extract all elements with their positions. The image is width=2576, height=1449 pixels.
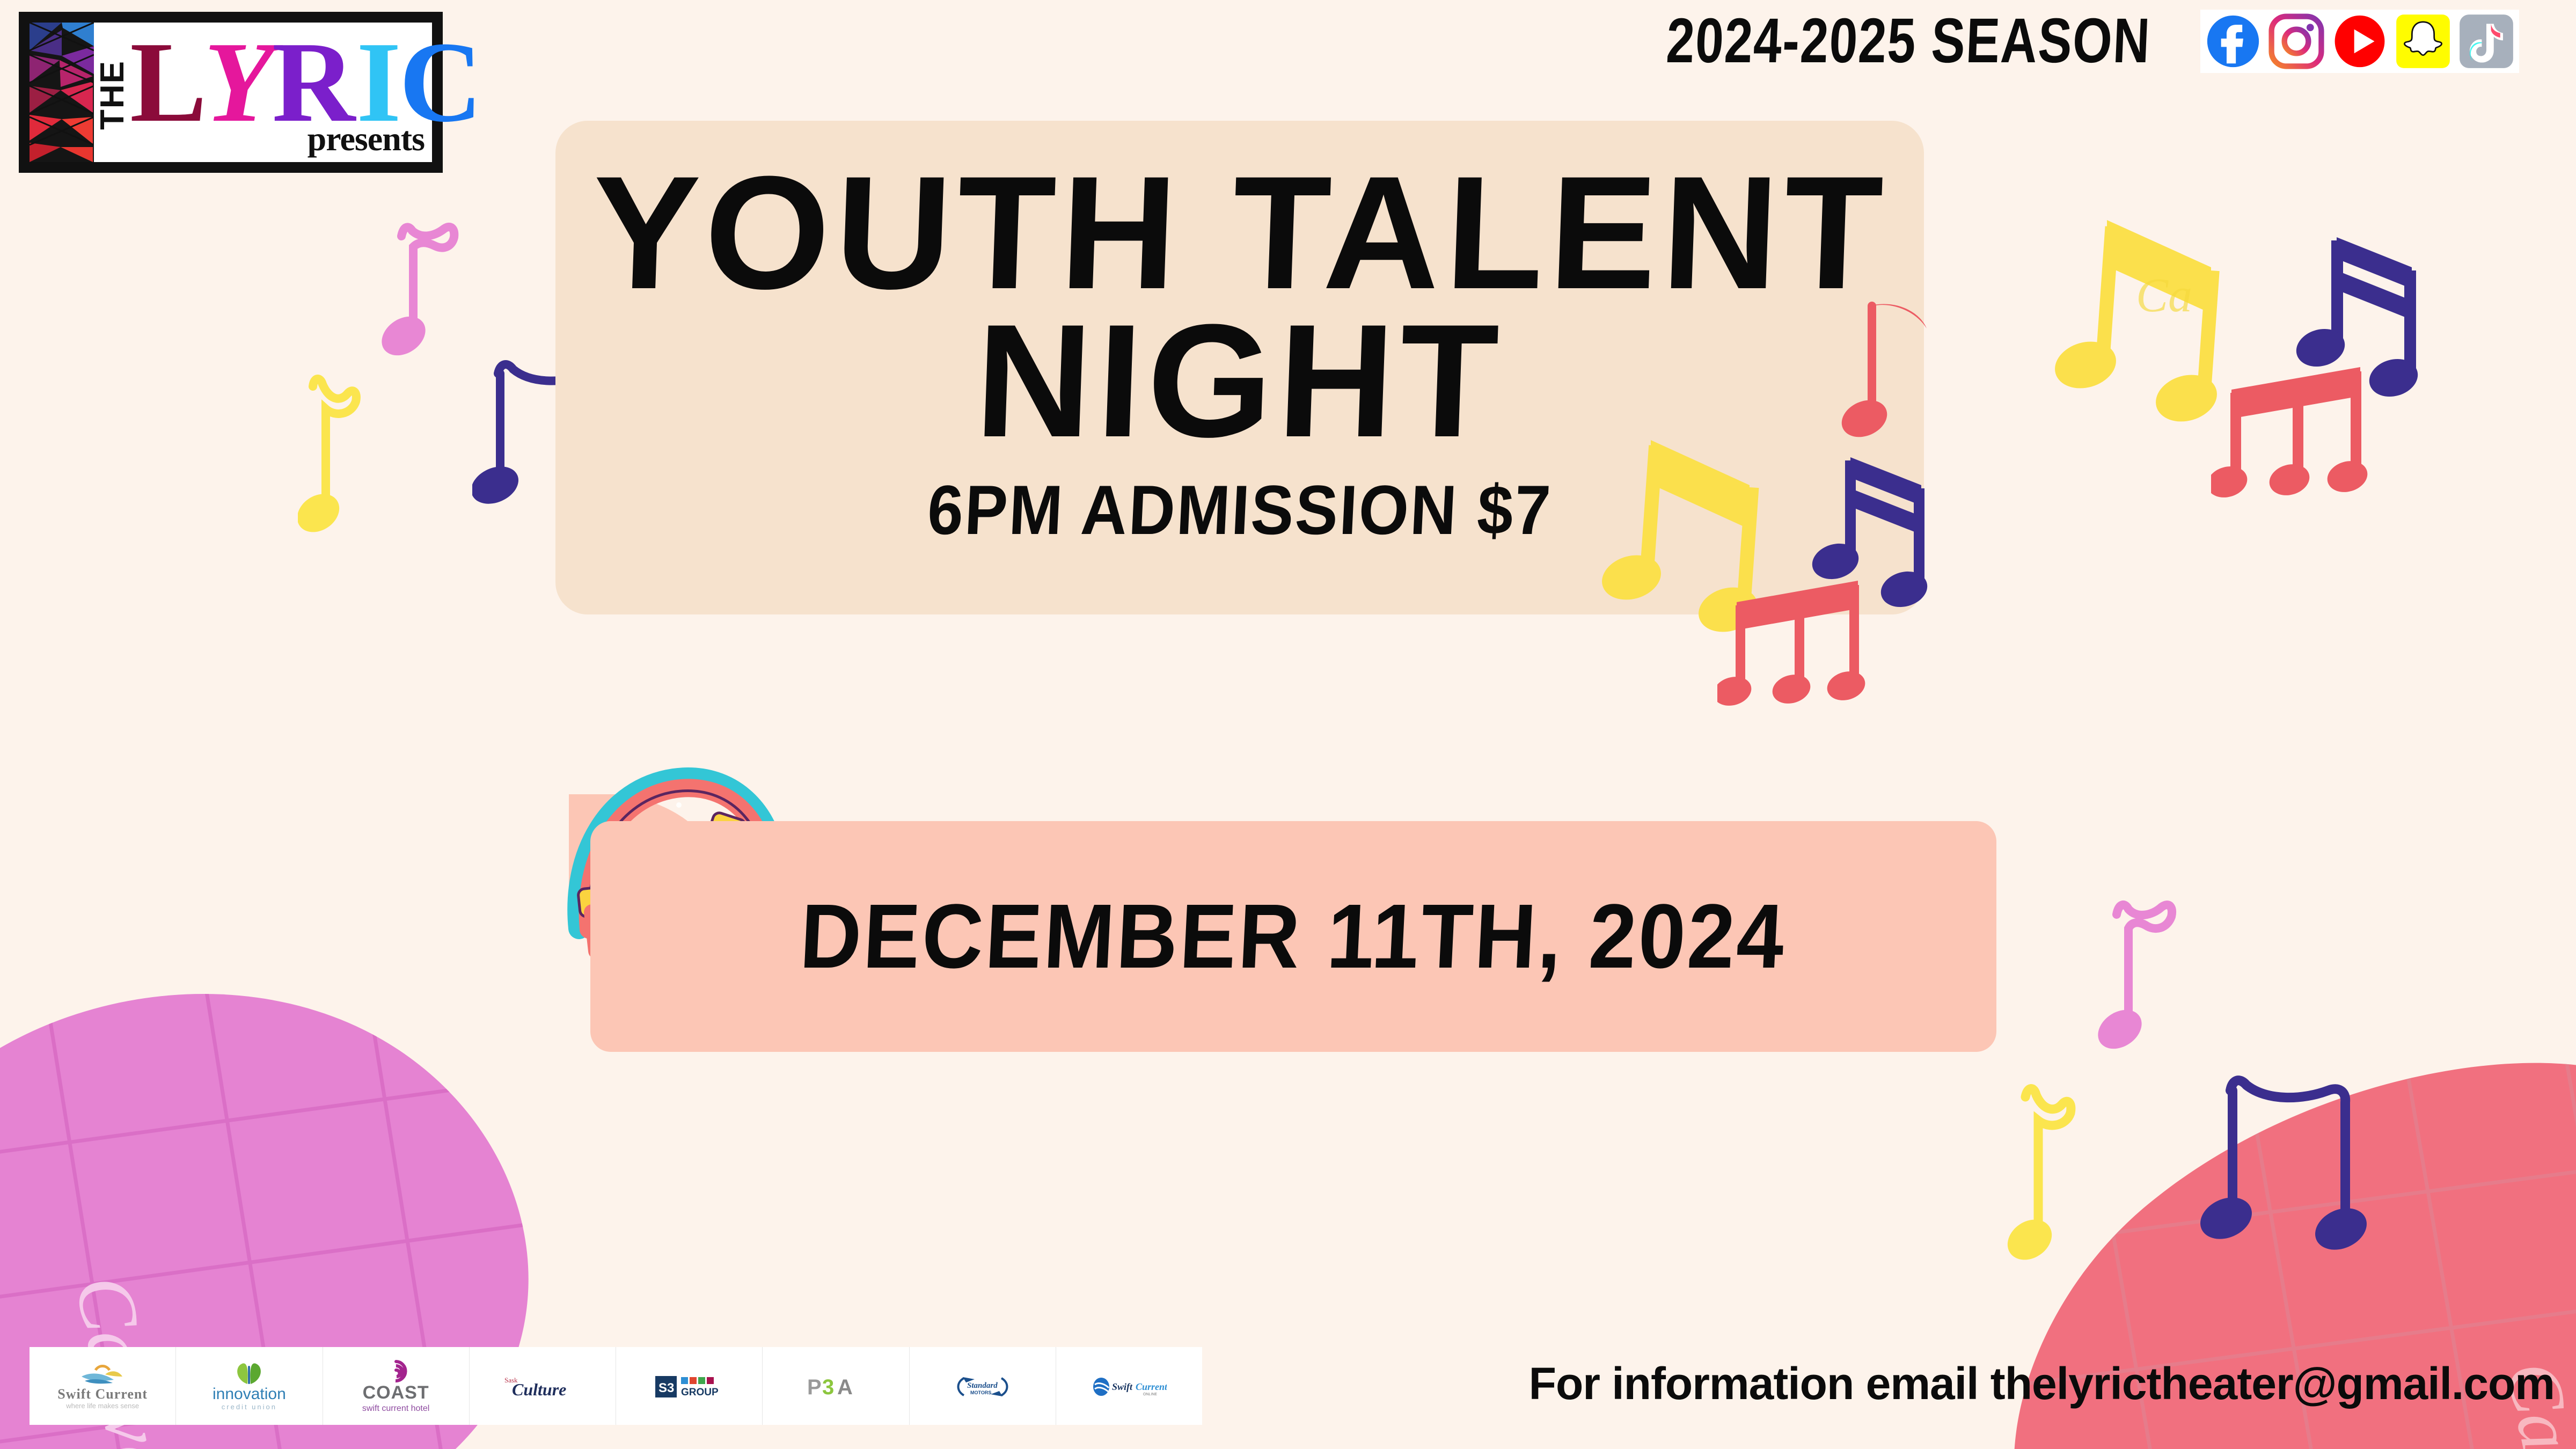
instagram-icon[interactable] — [2267, 12, 2326, 71]
sponsor-tagline: swift current hotel — [362, 1404, 429, 1414]
wave-sun-mark — [79, 1362, 126, 1387]
p3a-mark: P 3 A — [806, 1374, 865, 1399]
note-pink-lower-right — [2093, 891, 2195, 1068]
sponsor-coast-hotel[interactable]: COAST swift current hotel — [323, 1347, 470, 1425]
sponsor-name: Swift Current — [57, 1387, 148, 1401]
svg-text:3: 3 — [822, 1375, 834, 1399]
svg-text:S3: S3 — [658, 1381, 674, 1395]
sponsor-name: COAST — [363, 1384, 429, 1403]
s3-mark: S3 GROUP — [654, 1374, 724, 1399]
season-label: 2024-2025 SEASON — [1591, 4, 2152, 77]
svg-text:Standard: Standard — [967, 1381, 998, 1390]
standard-motors-mark: Standard MOTORS — [953, 1374, 1012, 1399]
note-yellow-lower-right — [2007, 1079, 2104, 1277]
sponsor-innovation-credit-union[interactable]: innovation credit union — [176, 1347, 323, 1425]
tiktok-icon[interactable] — [2457, 12, 2516, 71]
svg-text:Current: Current — [1136, 1381, 1167, 1392]
sponsor-tagline: where life makes sense — [66, 1402, 139, 1410]
event-date-text: DECEMBER 11TH, 2024 — [798, 884, 1789, 989]
poster-canvas: Canva Canva — [0, 0, 2576, 1449]
sponsor-s3-group[interactable]: S3 GROUP GROUP S3 — [616, 1347, 763, 1425]
note-pink-single — [376, 215, 472, 370]
facebook-icon[interactable] — [2204, 12, 2263, 71]
svg-text:P: P — [807, 1375, 822, 1399]
logo-letter-l: L — [130, 29, 207, 135]
lyric-theatre-logo[interactable]: THE L Y R I C presents — [19, 12, 443, 173]
event-title-line2: NIGHT — [974, 306, 1506, 455]
logo-the-text: THE — [97, 49, 128, 130]
snapchat-icon[interactable] — [2394, 12, 2453, 71]
event-title-line1: YOUTH TALENT — [589, 158, 1890, 306]
sponsor-saskculture[interactable]: Sask Culture Culture Sask — [470, 1347, 616, 1425]
sponsor-swift-current[interactable]: Swift Current where life makes sense — [30, 1347, 176, 1425]
youtube-icon[interactable] — [2330, 12, 2389, 71]
note-red-triple-right — [2211, 354, 2399, 521]
note-navy-lower-right — [2200, 1068, 2394, 1277]
social-links-bar[interactable] — [2200, 10, 2519, 73]
svg-text:ONLINE: ONLINE — [1143, 1393, 1157, 1396]
sponsor-standard-motors[interactable]: Standard MOTORS Standard MOTORS — [910, 1347, 1056, 1425]
event-subtitle: 6PM ADMISSION $7 — [926, 470, 1554, 550]
sponsor-name: innovation — [213, 1386, 286, 1403]
note-yellow-single — [298, 370, 389, 542]
sponsor-logo-strip: Swift Current where life makes sense inn… — [30, 1347, 1202, 1425]
sponsor-p3a[interactable]: P 3 A P3A — [763, 1347, 909, 1425]
svg-text:GROUP: GROUP — [681, 1387, 719, 1398]
logo-letter-y: Y — [203, 29, 274, 135]
svg-text:Culture: Culture — [512, 1380, 566, 1399]
svg-text:MOTORS: MOTORS — [970, 1390, 991, 1395]
culture-mark: Sask Culture — [502, 1374, 583, 1399]
svg-text:Ca: Ca — [2136, 269, 2192, 322]
butterfly-mark — [232, 1361, 266, 1386]
sponsor-tagline: credit union — [222, 1403, 277, 1411]
spiral-mark — [384, 1359, 408, 1384]
contact-email-line[interactable]: For information email thelyrictheater@gm… — [1519, 1358, 2555, 1410]
event-date-banner: DECEMBER 11TH, 2024 — [590, 821, 1996, 1052]
swiftcurrent-online-mark: Swift Current ONLINE — [1092, 1374, 1167, 1399]
svg-text:Swift: Swift — [1112, 1381, 1133, 1392]
svg-text:A: A — [837, 1375, 853, 1399]
logo-presents-text: presents — [308, 119, 425, 159]
logo-mosaic-pattern — [30, 23, 94, 162]
note-red-triple — [1717, 569, 1894, 730]
note-red-single — [1841, 290, 1943, 451]
sponsor-swiftcurrent-online[interactable]: Swift Current ONLINE SwiftCurrent ONLINE — [1056, 1347, 1202, 1425]
